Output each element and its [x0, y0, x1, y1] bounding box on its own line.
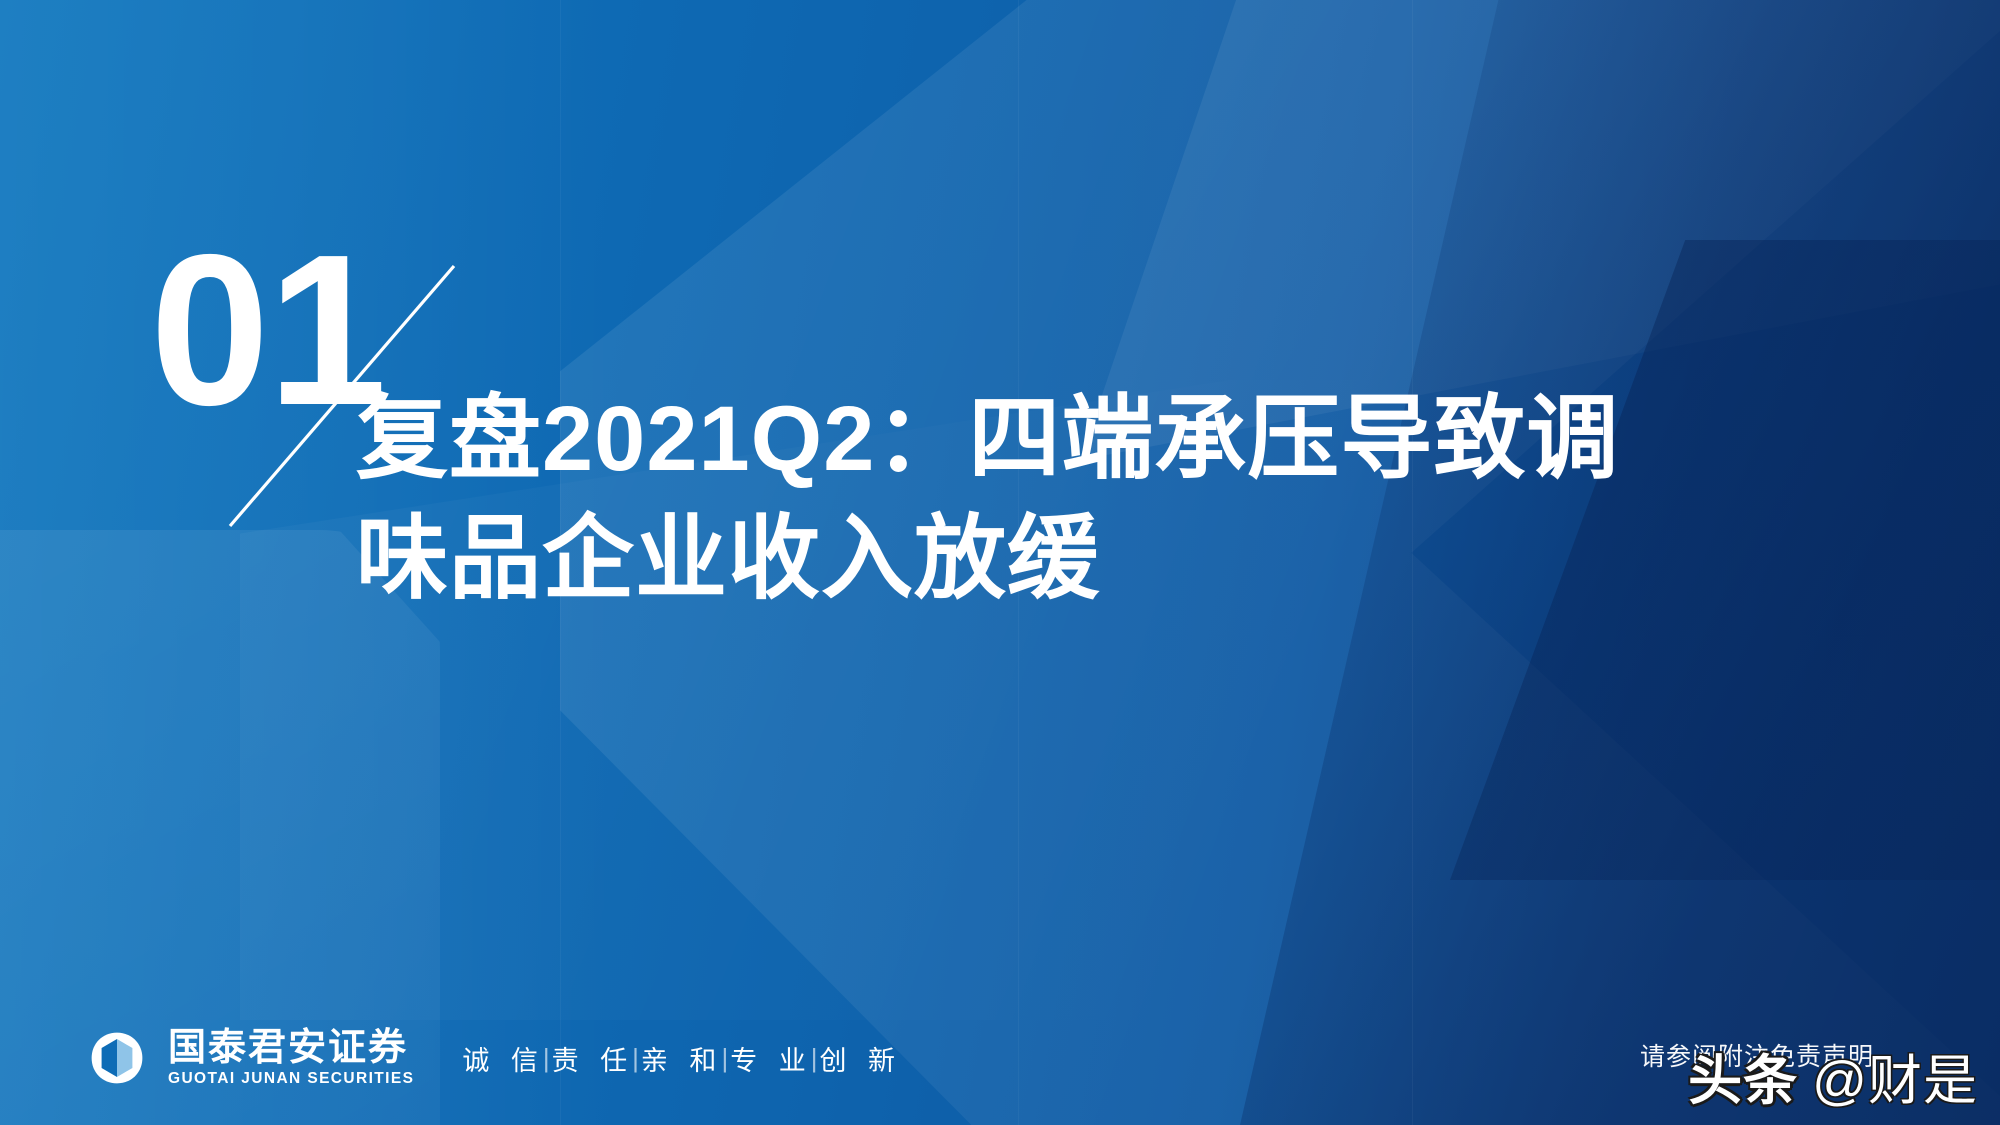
- tagline-separator-1: |: [632, 1043, 639, 1074]
- page-title: 复盘2021Q2：四端承压导致调 味品企业收入放缓: [356, 380, 1596, 619]
- tagline-separator-3: |: [811, 1043, 818, 1074]
- slide-root: 01 复盘2021Q2：四端承压导致调 味品企业收入放缓 国泰君安证券 GUOT…: [0, 0, 2000, 1125]
- brand-name-en: GUOTAI JUNAN SECURITIES: [168, 1071, 414, 1087]
- watermark-logo-text: 头条: [1688, 1036, 1798, 1115]
- watermark-handle-text: @财是: [1812, 1036, 1978, 1115]
- tagline-item-2: 亲 和: [641, 1039, 724, 1078]
- guotai-junan-hexagon-logo-icon: [88, 1029, 146, 1087]
- brand-tagline: 诚 信 | 责 任 | 亲 和 | 专 业 | 创 新: [462, 1039, 902, 1078]
- page-title-line-1: 复盘2021Q2：四端承压导致调: [356, 380, 1596, 500]
- brand-name-cn: 国泰君安证券: [168, 1029, 414, 1067]
- tagline-item-1: 责 任: [552, 1039, 635, 1078]
- tagline-item-0: 诚 信: [462, 1039, 545, 1078]
- footer-brand: 国泰君安证券 GUOTAI JUNAN SECURITIES 诚 信 | 责 任…: [88, 1029, 902, 1087]
- brand-wordmark: 国泰君安证券 GUOTAI JUNAN SECURITIES: [168, 1029, 414, 1087]
- tagline-separator-2: |: [721, 1043, 728, 1074]
- tagline-item-4: 创 新: [819, 1039, 902, 1078]
- watermark: 头条 @财是: [1688, 1036, 1978, 1115]
- page-title-line-2: 味品企业收入放缓: [356, 500, 1596, 620]
- tagline-item-3: 专 业: [730, 1039, 813, 1078]
- tagline-separator-0: |: [543, 1043, 550, 1074]
- section-number: 01: [150, 222, 385, 437]
